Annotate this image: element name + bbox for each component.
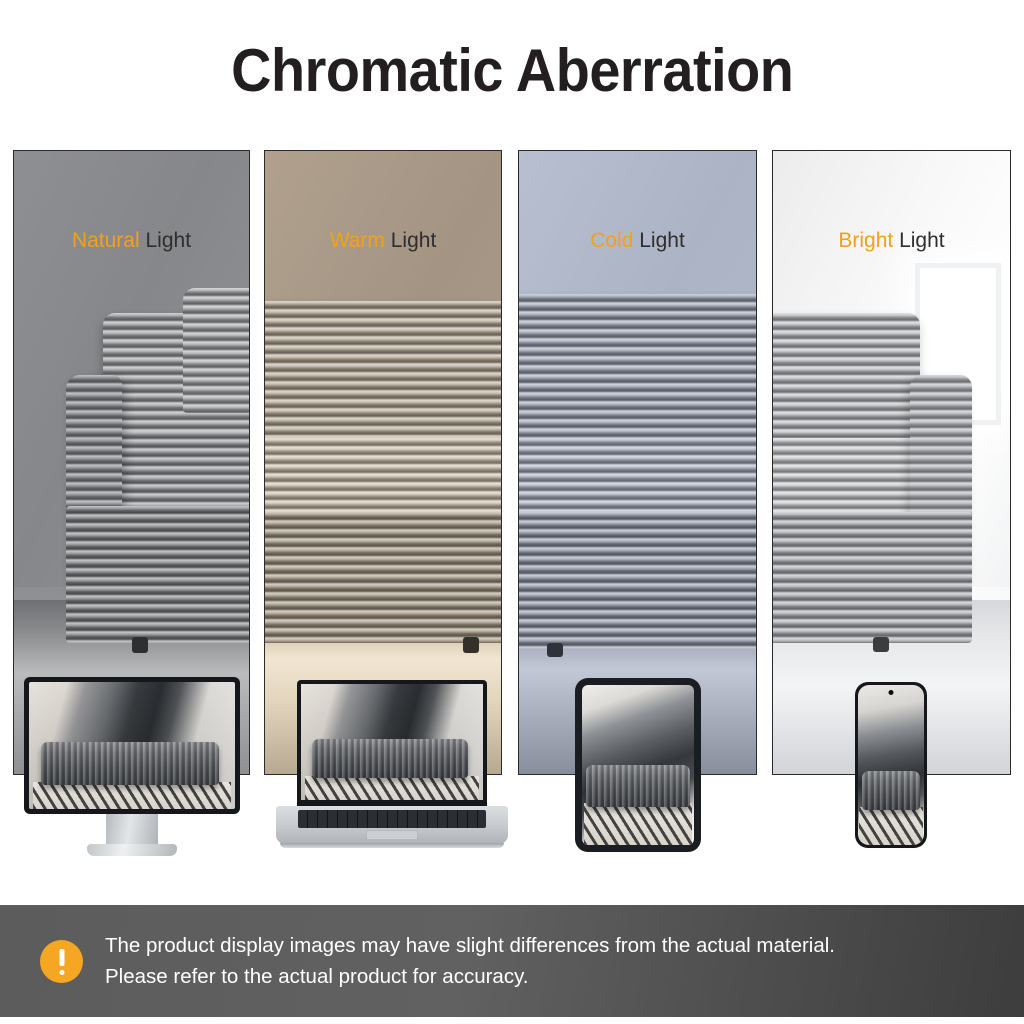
- panel-keyword: Bright: [838, 229, 893, 252]
- sofa-base: [264, 512, 502, 643]
- sofa-base: [772, 512, 972, 643]
- panel-label-warm: Warm Light: [265, 229, 501, 253]
- lighting-comparison-panels: Natural Light Warm Light Cold Light: [0, 150, 1024, 775]
- panel-suffix: Light: [385, 229, 436, 252]
- panel-suffix: Light: [893, 229, 944, 252]
- screen-rug: [33, 782, 231, 809]
- exclamation-dot: [59, 970, 64, 975]
- screen-rug: [305, 776, 480, 800]
- sofa-leg: [463, 637, 479, 653]
- sofa-leg: [547, 643, 563, 657]
- monitor-neck: [106, 814, 158, 845]
- sofa-leg: [873, 637, 889, 652]
- sofa-back-cushion: [518, 294, 757, 444]
- warning-exclamation-icon: [40, 940, 83, 983]
- laptop-keyboard: [298, 810, 486, 828]
- panel-keyword: Natural: [72, 229, 140, 252]
- sofa-back-cushion: [772, 313, 920, 450]
- laptop-trackpad: [366, 830, 418, 840]
- panel-cold-light: Cold Light: [518, 150, 757, 775]
- sofa-base: [518, 512, 757, 649]
- panel-bright-light: Bright Light: [772, 150, 1011, 775]
- screen-rug: [584, 803, 692, 845]
- panel-label-cold: Cold Light: [519, 229, 756, 253]
- panel-label-bright: Bright Light: [773, 229, 1010, 253]
- page-title: Chromatic Aberration: [231, 36, 793, 105]
- panel-natural-light: Natural Light: [13, 150, 250, 775]
- sofa-back-cushion: [183, 288, 250, 413]
- disclaimer-line-1: The product display images may have slig…: [105, 930, 835, 961]
- panel-keyword: Cold: [590, 229, 633, 252]
- disclaimer-line-2: Please refer to the actual product for a…: [105, 961, 835, 992]
- exclamation-stroke: [59, 949, 64, 966]
- panel-label-natural: Natural Light: [14, 229, 249, 253]
- sofa-leg: [132, 637, 148, 653]
- disclaimer-bar: The product display images may have slig…: [0, 905, 1024, 1017]
- screen-sofa: [862, 771, 920, 809]
- screen-rug: [859, 807, 922, 845]
- panel-keyword: Warm: [330, 229, 385, 252]
- laptop-foot-shadow: [280, 843, 504, 848]
- disclaimer-text: The product display images may have slig…: [105, 930, 835, 992]
- sofa-base: [66, 506, 250, 643]
- sofa-back-cushion: [264, 301, 502, 444]
- panel-suffix: Light: [140, 229, 191, 252]
- panel-suffix: Light: [633, 229, 684, 252]
- laptop-keyboard-deck: [276, 806, 508, 844]
- title-bar: Chromatic Aberration: [0, 0, 1024, 140]
- panel-warm-light: Warm Light: [264, 150, 502, 775]
- monitor-base: [87, 844, 177, 856]
